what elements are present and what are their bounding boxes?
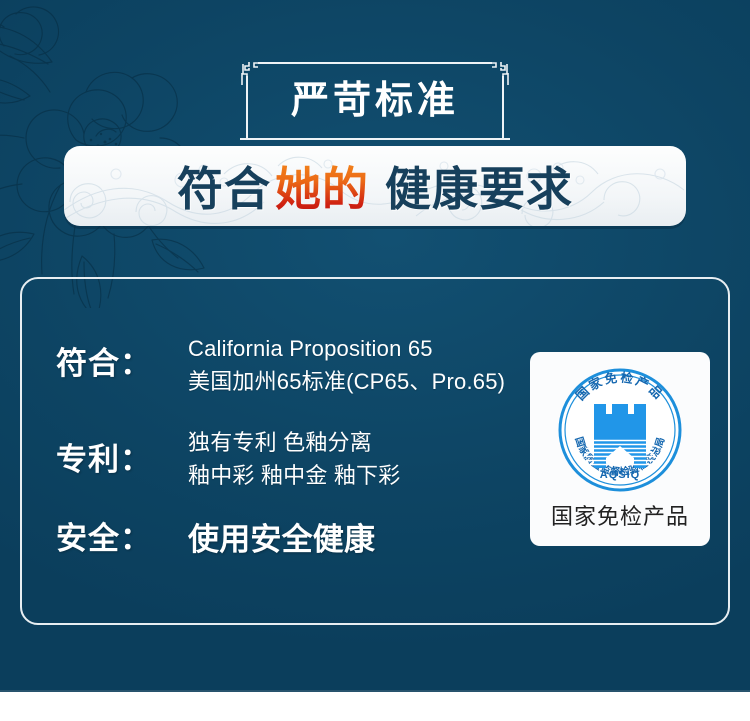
frame-rail-bottom [240, 138, 510, 140]
promo-page: 严苛标准 [0, 0, 750, 721]
headline-segment-highlight: 她的 [271, 153, 373, 219]
spec-values-patent: 独有专利 色釉分离 釉中彩 釉中金 釉下彩 [188, 424, 496, 492]
headline-segment-1: 符合 [177, 153, 271, 219]
headline-banner: 符合 她的 健康要求 [64, 146, 686, 226]
spec-value-line: 釉中彩 釉中金 釉下彩 [188, 459, 496, 492]
spec-list: 符合： California Proposition 65 美国加州65标准(C… [56, 330, 496, 586]
national-inspection-exempt-seal-icon: 国家免检产品 国家质量监督检验检疫总局 AQSIQ [550, 360, 690, 500]
spec-row-patent: 专利： 独有专利 色釉分离 釉中彩 釉中金 釉下彩 [56, 424, 496, 492]
spec-values-compliance: California Proposition 65 美国加州65标准(CP65、… [188, 330, 505, 398]
certification-card: 国家免检产品 国家质量监督检验检疫总局 AQSIQ [530, 352, 710, 546]
spec-values-safety: 使用安全健康 [188, 518, 496, 560]
spec-label-patent: 专利： [56, 424, 188, 479]
spec-value-line: 美国加州65标准(CP65、Pro.65) [188, 365, 505, 398]
headline-segment-3: 健康要求 [385, 153, 573, 219]
strict-standard-heading: 严苛标准 [240, 62, 510, 140]
spec-value-line: 独有专利 色釉分离 [188, 426, 496, 459]
svg-text:AQSIQ: AQSIQ [600, 469, 640, 481]
spec-row-safety: 安全： 使用安全健康 [56, 518, 496, 560]
frame-rail-top [258, 62, 492, 64]
spec-row-compliance: 符合： California Proposition 65 美国加州65标准(C… [56, 330, 496, 398]
spec-label-compliance: 符合： [56, 330, 188, 383]
certification-caption: 国家免检产品 [551, 502, 689, 532]
headline-text: 符合 她的 健康要求 [64, 146, 686, 226]
spec-value-line: 使用安全健康 [188, 520, 496, 560]
background-bottom-edge [0, 690, 750, 692]
spec-value-line: California Proposition 65 [188, 332, 505, 365]
page-title: 严苛标准 [240, 74, 510, 128]
spec-label-safety: 安全： [56, 521, 188, 558]
